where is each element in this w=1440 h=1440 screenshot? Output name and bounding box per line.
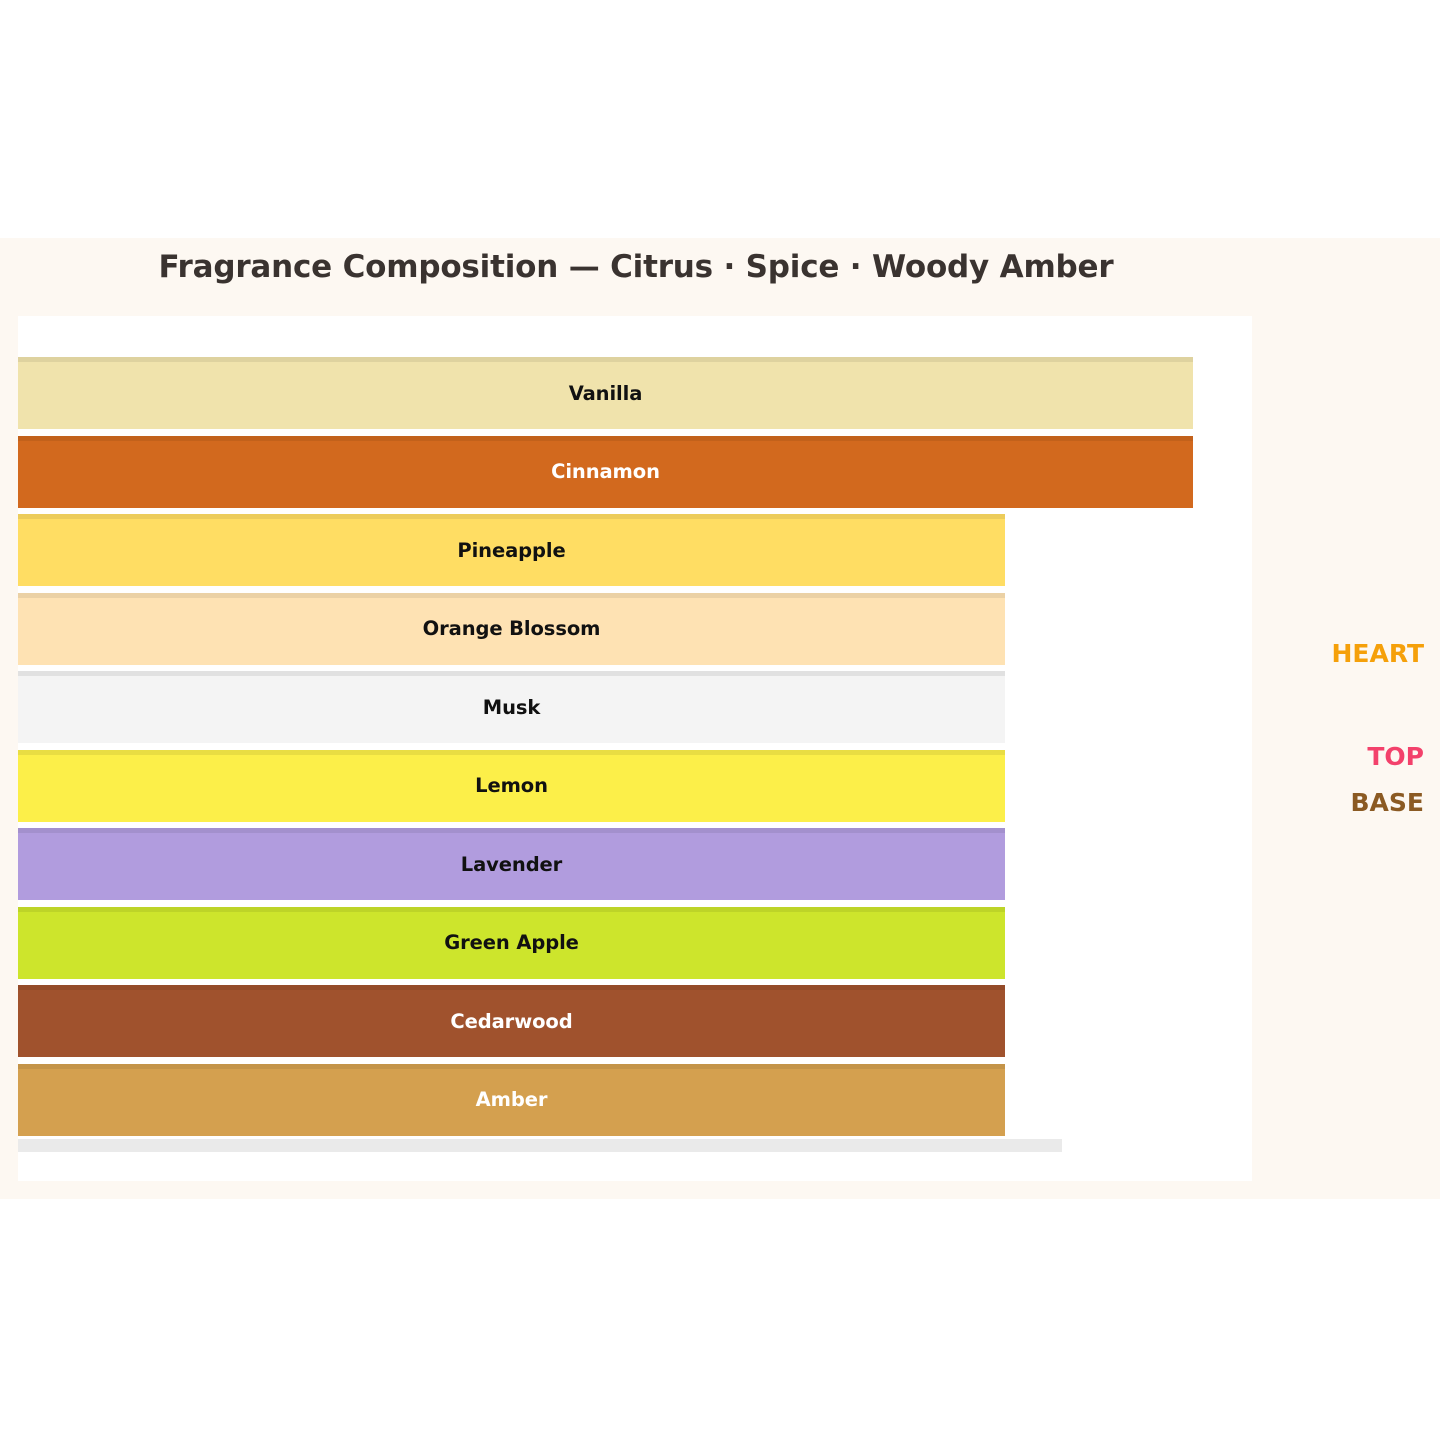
- bar-fill[interactable]: [18, 907, 1005, 979]
- bar-fill[interactable]: [18, 593, 1005, 665]
- plot-card: VanillaCinnamonPineappleOrange BlossomMu…: [18, 316, 1252, 1181]
- bar-row[interactable]: Pineapple: [18, 514, 1193, 586]
- bar-fill[interactable]: [18, 514, 1005, 586]
- bar-fill[interactable]: [18, 436, 1193, 508]
- bar-row[interactable]: Vanilla: [18, 357, 1193, 429]
- legend-item-top[interactable]: TOP: [1367, 742, 1424, 771]
- bar-row[interactable]: Green Apple: [18, 907, 1193, 979]
- bar-fill[interactable]: [18, 828, 1005, 900]
- bar-row[interactable]: Orange Blossom: [18, 593, 1193, 665]
- legend-item-heart[interactable]: HEART: [1331, 639, 1424, 668]
- bar-fill[interactable]: [18, 1064, 1005, 1136]
- bar-row[interactable]: Lavender: [18, 828, 1193, 900]
- bar-row[interactable]: Musk: [18, 671, 1193, 743]
- bar-row[interactable]: Cinnamon: [18, 436, 1193, 508]
- bar-fill[interactable]: [18, 985, 1005, 1057]
- bar-fill[interactable]: [18, 357, 1193, 429]
- legend-item-base[interactable]: BASE: [1351, 788, 1425, 817]
- bar-row[interactable]: Lemon: [18, 750, 1193, 822]
- bar-chart: VanillaCinnamonPineappleOrange BlossomMu…: [18, 316, 1252, 1181]
- page-title: Fragrance Composition — Citrus · Spice ·…: [0, 249, 1272, 285]
- legend: HEARTTOPBASE: [1262, 238, 1440, 1199]
- bar-fill[interactable]: [18, 750, 1005, 822]
- bar-fill[interactable]: [18, 671, 1005, 743]
- bar-track-tail: [18, 1139, 1062, 1152]
- bar-row[interactable]: Cedarwood: [18, 985, 1193, 1057]
- bar-row[interactable]: Amber: [18, 1064, 1193, 1136]
